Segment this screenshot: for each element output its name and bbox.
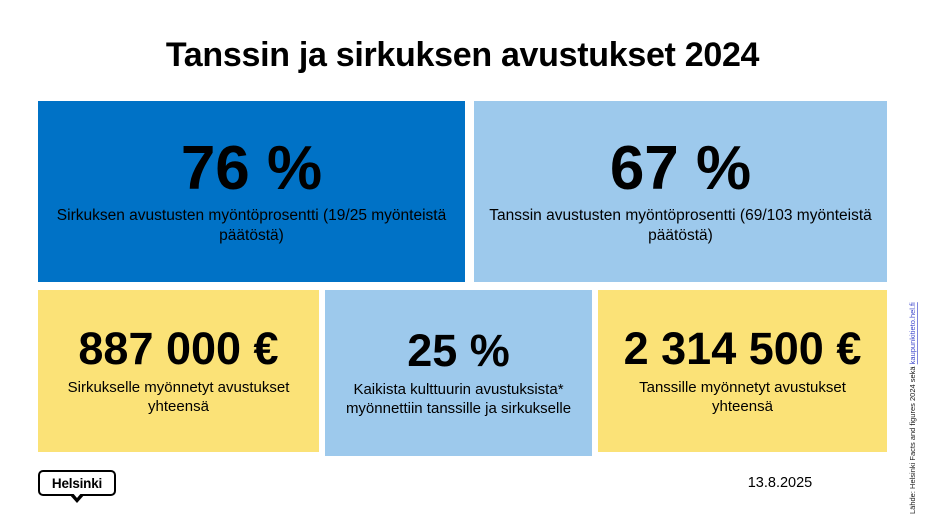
logo-label: Helsinki [52,476,102,491]
stat-card-dance-approval-rate: 67 % Tanssin avustusten myöntöprosentti … [474,101,887,282]
date-label: 13.8.2025 [700,475,860,491]
stat-caption: Sirkuksen avustusten myöntöprosentti (19… [48,206,455,246]
stat-caption: Sirkukselle myönnetyt avustukset yhteens… [48,378,309,416]
source-link[interactable]: kaupunkitieto.hel.fi [908,302,917,364]
source-prefix: Lähde: Helsinki Facts and figures 2024 s… [908,364,917,514]
stat-value: 2 314 500 € [624,326,862,372]
stat-card-share-of-all-culture-grants: 25 % Kaikista kulttuurin avustuksista* m… [325,290,592,456]
stat-card-circus-total-grants: 887 000 € Sirkukselle myönnetyt avustuks… [38,290,319,452]
logo-tail-inner-icon [72,492,82,498]
stat-caption: Tanssille myönnetyt avustukset yhteensä [608,378,877,416]
stat-caption: Kaikista kulttuurin avustuksista* myönne… [335,380,582,418]
helsinki-logo: Helsinki [38,470,116,500]
stat-value: 25 % [407,328,510,374]
stat-value: 67 % [610,137,751,200]
stat-caption: Tanssin avustusten myöntöprosentti (69/1… [484,206,877,246]
stat-value: 887 000 € [78,326,278,372]
stat-value: 76 % [181,137,322,200]
stat-card-circus-approval-rate: 76 % Sirkuksen avustusten myöntöprosentt… [38,101,465,282]
source-note: Lähde: Helsinki Facts and figures 2024 s… [909,304,923,514]
stat-card-dance-total-grants: 2 314 500 € Tanssille myönnetyt avustuks… [598,290,887,452]
page-title: Tanssin ja sirkuksen avustukset 2024 [0,36,925,75]
